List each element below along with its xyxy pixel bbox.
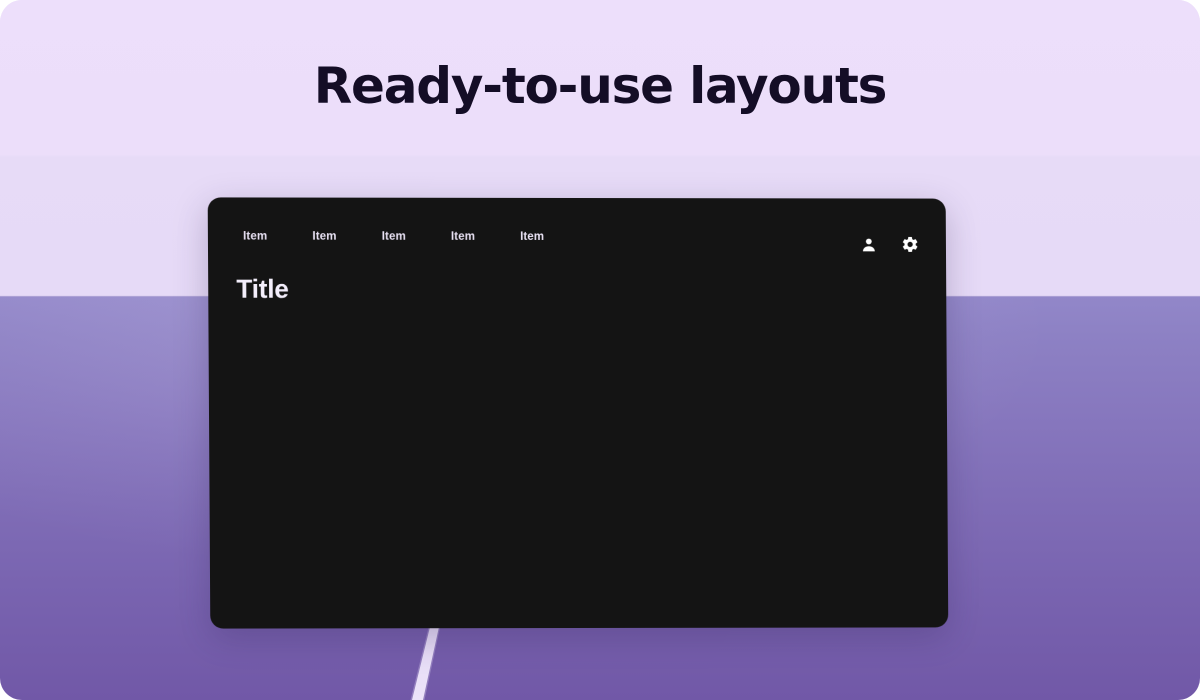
- settings-gear-icon[interactable]: [900, 234, 920, 254]
- panel-title: Title: [236, 276, 288, 302]
- page-headline: Ready-to-use layouts: [0, 59, 1200, 114]
- scene-canvas: Item Item Item Item Item: [0, 0, 1200, 700]
- nav-item-2[interactable]: Item: [312, 232, 336, 244]
- nav-item-4[interactable]: Item: [451, 232, 475, 244]
- nav-item-3[interactable]: Item: [382, 232, 406, 244]
- ui-panel-wrapper: Item Item Item Item Item: [210, 198, 948, 628]
- panel-navbar: Item Item Item Item Item: [208, 197, 947, 284]
- nav-item-5[interactable]: Item: [520, 232, 544, 244]
- account-icon[interactable]: [858, 234, 878, 254]
- navbar-menu: Item Item Item Item Item: [243, 232, 589, 244]
- dark-ui-panel: Item Item Item Item Item: [208, 197, 949, 628]
- navbar-actions: [836, 234, 920, 254]
- nav-item-1[interactable]: Item: [243, 232, 267, 244]
